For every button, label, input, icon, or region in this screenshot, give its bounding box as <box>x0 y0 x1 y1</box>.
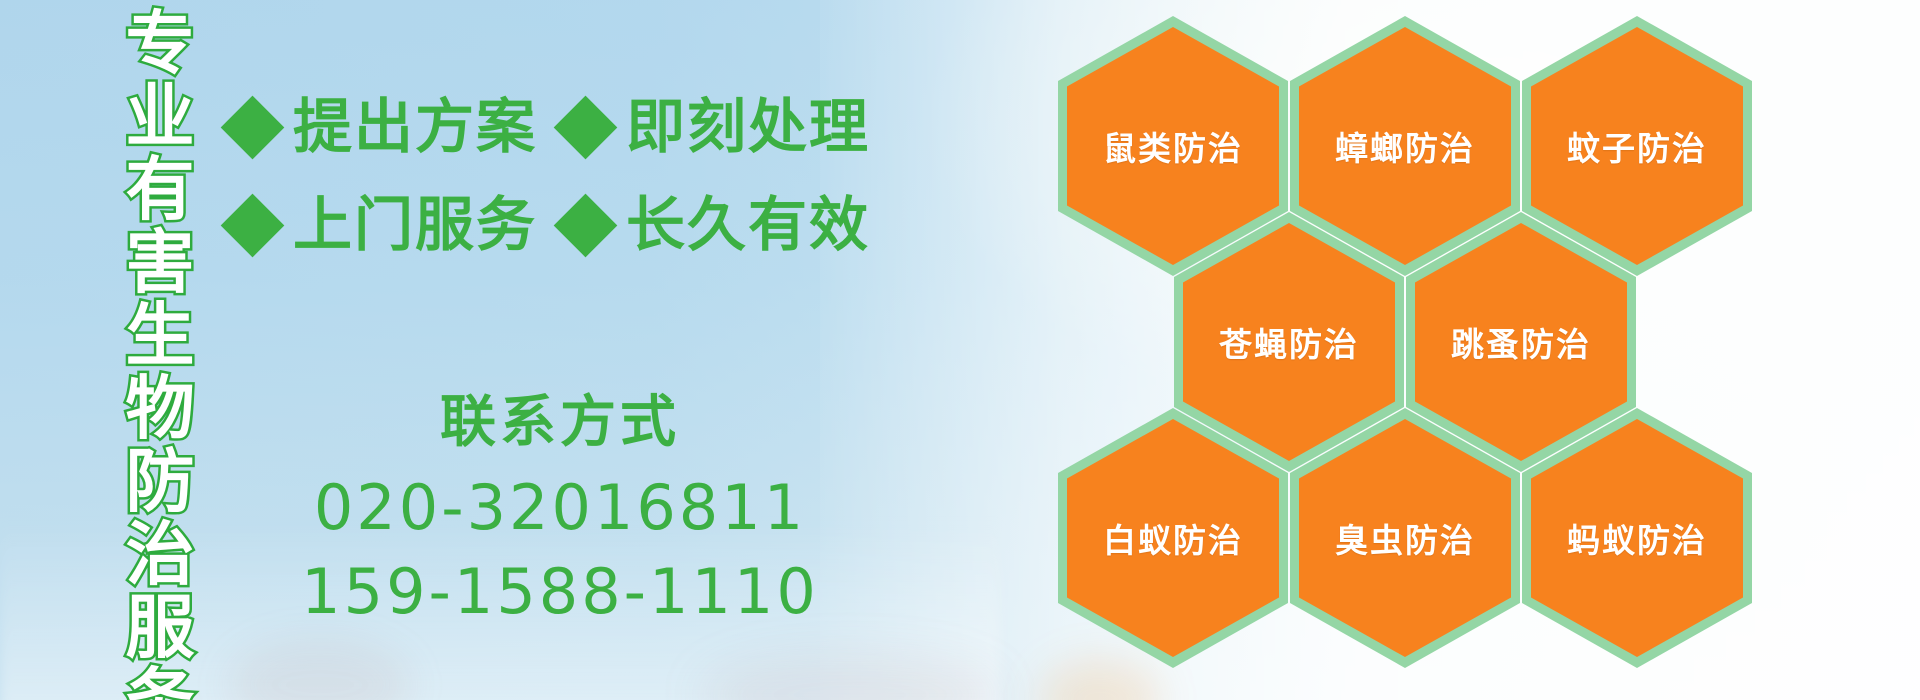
feature-item-long-lasting: 长久有效 <box>561 194 870 256</box>
contact-title: 联系方式 <box>230 392 890 454</box>
vertical-headline-char: 务 <box>126 665 195 700</box>
feature-label: 上门服务 <box>293 194 537 256</box>
feature-item-propose-plan: 提出方案 <box>228 96 537 158</box>
vertical-headline-char: 有 <box>126 154 195 227</box>
vertical-headline-char: 专 <box>126 8 195 81</box>
diamond-bullet-icon <box>221 95 285 159</box>
hex-cell-termite-control[interactable]: 白蚁防治 <box>1058 408 1288 668</box>
hex-cell-label: 蚂蚁防治 <box>1522 408 1752 668</box>
diamond-bullet-icon <box>221 193 285 257</box>
vertical-headline-char: 业 <box>126 81 195 154</box>
hex-cell-label: 白蚁防治 <box>1058 408 1288 668</box>
feature-item-immediate-handling: 即刻处理 <box>561 96 870 158</box>
hex-cell-bedbug-control[interactable]: 臭虫防治 <box>1290 408 1520 668</box>
feature-label: 长久有效 <box>626 194 870 256</box>
feature-row: 上门服务 长久有效 <box>228 176 878 274</box>
vertical-headline-char: 治 <box>126 519 195 592</box>
service-honeycomb: 鼠类防治 蟑螂防治 蚊子防治 苍蝇防治 跳蚤防治 白蚁防治 <box>1040 0 1840 700</box>
vertical-headline-char: 生 <box>126 300 195 373</box>
feature-label: 即刻处理 <box>626 96 870 158</box>
diamond-bullet-icon <box>554 95 618 159</box>
feature-row: 提出方案 即刻处理 <box>228 78 878 176</box>
phone-number-mobile[interactable]: 159-1588-1110 <box>230 550 890 634</box>
pest-control-banner: 专 业 有 害 生 物 防 治 服 务 提出方案 即刻处理 上门服务 <box>0 0 1920 700</box>
diamond-bullet-icon <box>554 193 618 257</box>
vertical-headline-char: 防 <box>126 446 195 519</box>
feature-item-onsite-service: 上门服务 <box>228 194 537 256</box>
phone-number-landline[interactable]: 020-32016811 <box>230 466 890 550</box>
feature-label: 提出方案 <box>293 96 537 158</box>
vertical-headline-char: 害 <box>126 227 195 300</box>
vertical-headline-char: 物 <box>126 373 195 446</box>
feature-list: 提出方案 即刻处理 上门服务 长久有效 <box>228 78 878 274</box>
vertical-headline: 专 业 有 害 生 物 防 治 服 务 <box>108 8 212 668</box>
hex-cell-label: 臭虫防治 <box>1290 408 1520 668</box>
hex-cell-ant-control[interactable]: 蚂蚁防治 <box>1522 408 1752 668</box>
contact-block: 联系方式 020-32016811 159-1588-1110 <box>230 392 890 634</box>
vertical-headline-char: 服 <box>126 592 195 665</box>
